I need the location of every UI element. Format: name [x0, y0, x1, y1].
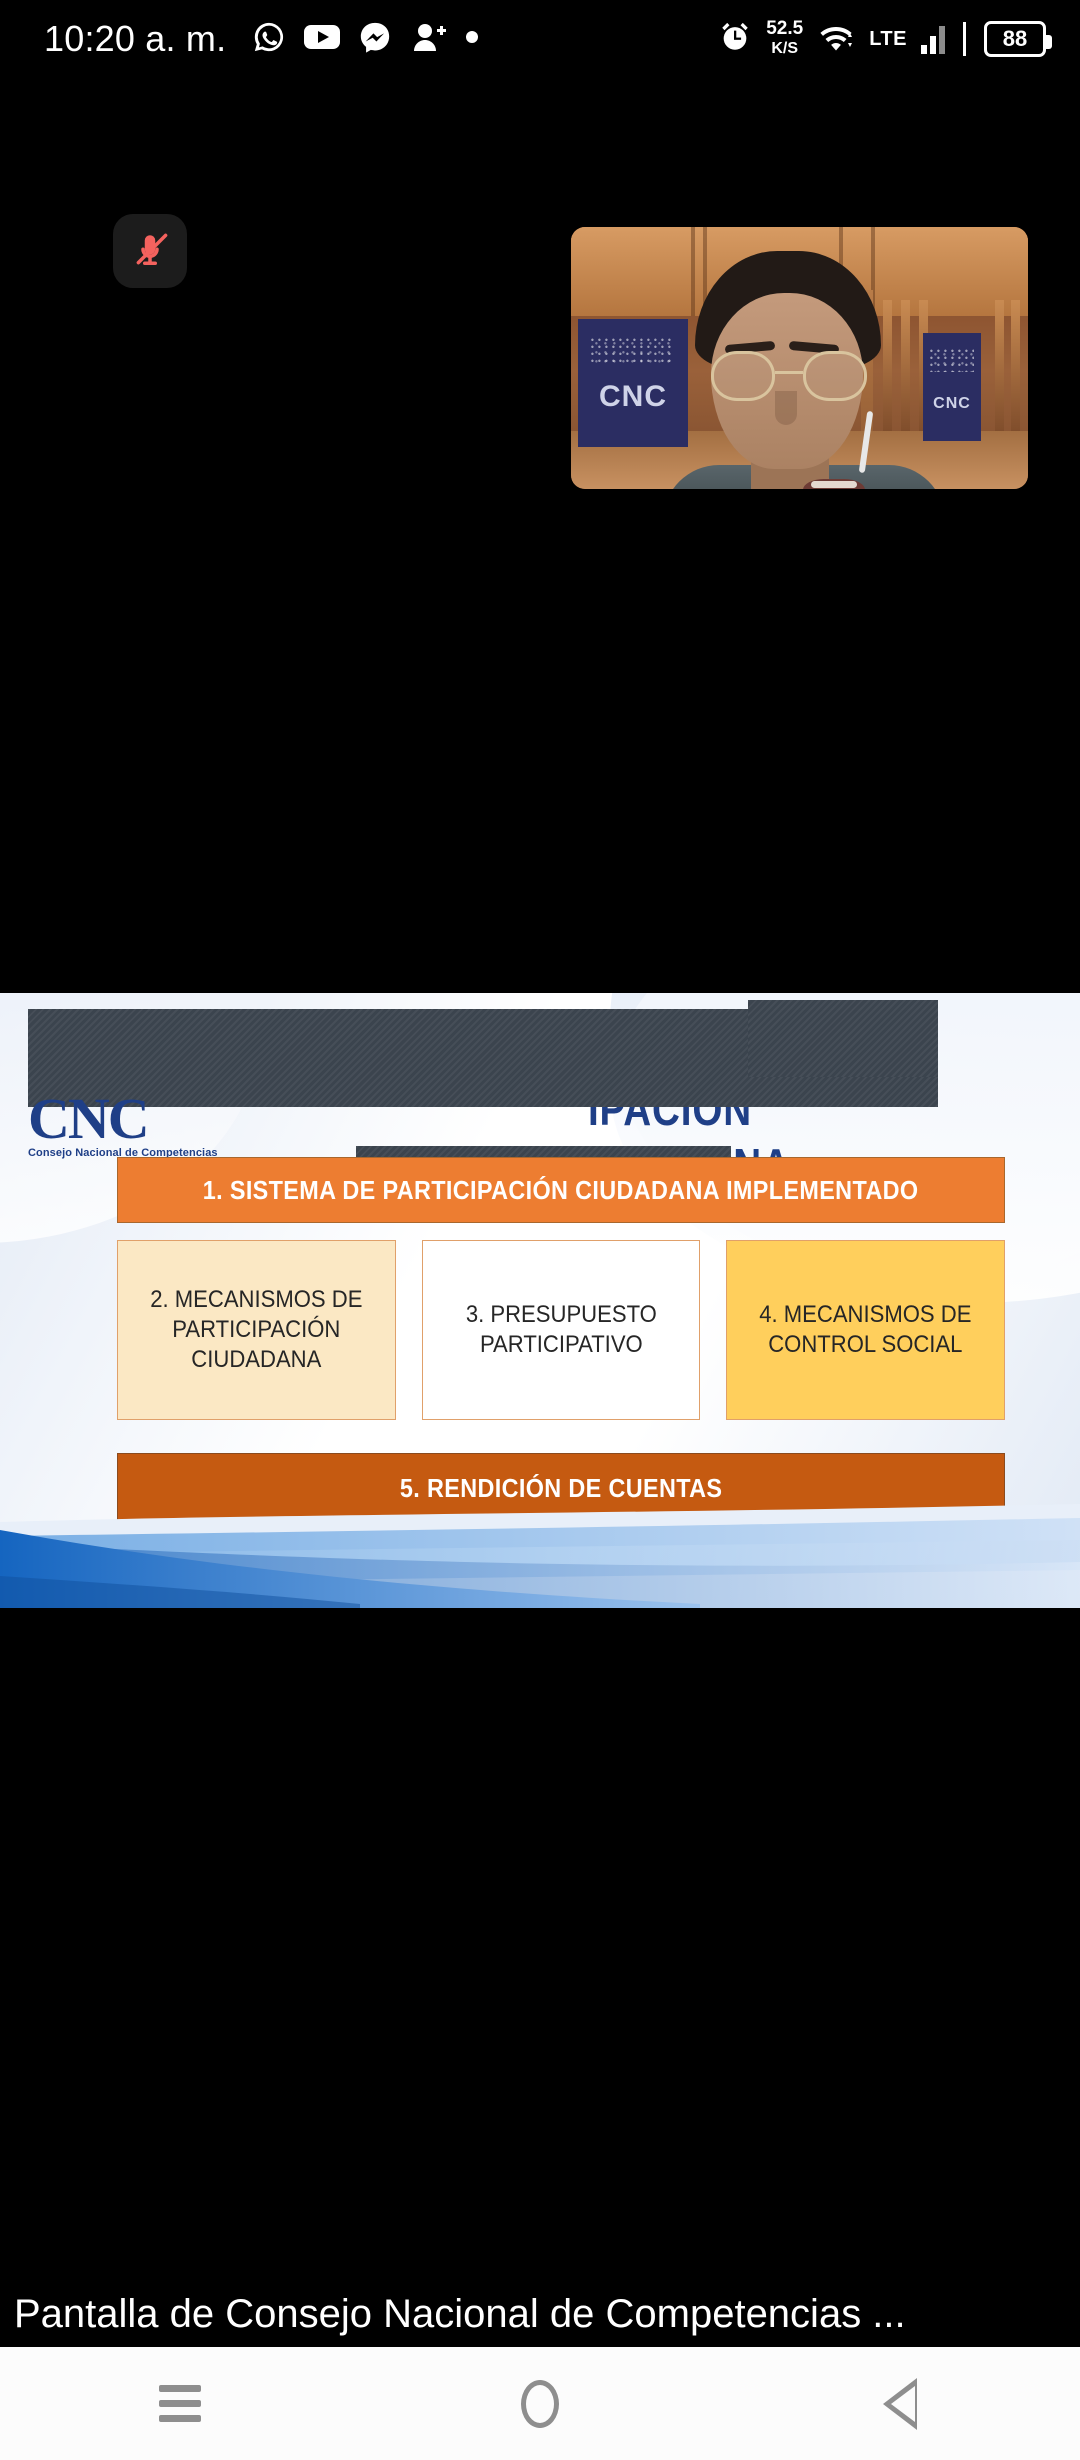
- alarm-icon: [718, 20, 752, 59]
- video-room-background: CNC CNC: [571, 227, 1028, 489]
- whatsapp-icon: [252, 20, 286, 59]
- network-speed-unit: K/S: [766, 39, 803, 59]
- slide-box-3-label: 3. PRESUPUESTO PARTICIPATIVO: [445, 1300, 677, 1360]
- network-type-label: LTE: [869, 28, 907, 51]
- cnc-logo-mark: CNC: [28, 1093, 218, 1145]
- status-bar-right: 52.5 K/S LTE 88: [718, 19, 1046, 59]
- redaction-block-2: [748, 1000, 938, 1077]
- youtube-icon: [304, 24, 340, 55]
- back-button[interactable]: [720, 2347, 1080, 2460]
- slide-box-row: 2. MECANISMOS DE PARTICIPACIÓN CIUDADANA…: [117, 1240, 1005, 1420]
- cnc-logo: CNC Consejo Nacional de Competencias: [28, 1093, 218, 1159]
- screenshare-caption-text: Pantalla de Consejo Nacional de Competen…: [14, 2292, 906, 2337]
- slide-box-3: 3. PRESUPUESTO PARTICIPATIVO: [422, 1240, 701, 1420]
- notification-icons: [252, 20, 480, 59]
- signal-bars-icon: [921, 24, 945, 54]
- shared-presentation-slide[interactable]: IPACIÓN CIUDADANA CNC Consejo Nacional d…: [0, 993, 1080, 1608]
- banner-dots-left: [591, 337, 675, 365]
- home-button[interactable]: [360, 2347, 720, 2460]
- screenshare-caption-bar: Pantalla de Consejo Nacional de Competen…: [0, 2281, 1080, 2347]
- slide-box-4-label: 4. MECANISMOS DE CONTROL SOCIAL: [749, 1300, 981, 1360]
- slide-wave-decoration: [0, 1492, 1080, 1608]
- battery-level: 88: [1003, 26, 1027, 52]
- status-bar-clock: 10:20 a. m.: [44, 18, 226, 60]
- participant-video-tile[interactable]: CNC CNC: [571, 227, 1028, 489]
- microphone-muted-icon[interactable]: [113, 214, 187, 288]
- network-speed: 52.5 K/S: [766, 19, 803, 59]
- wifi-icon: [817, 21, 855, 58]
- messenger-icon: [358, 20, 392, 59]
- status-divider: [963, 22, 966, 56]
- back-icon: [883, 2378, 917, 2430]
- slide-box-2-label: 2. MECANISMOS DE PARTICIPACIÓN CIUDADANA: [140, 1285, 372, 1375]
- home-icon: [521, 2380, 559, 2428]
- earphone-cable: [859, 411, 874, 473]
- add-person-icon: [410, 22, 446, 57]
- status-bar[interactable]: 10:20 a. m. 52.5 K/S: [0, 0, 1080, 78]
- participant-person: [667, 251, 937, 489]
- glasses: [711, 351, 867, 403]
- slide-box-2: 2. MECANISMOS DE PARTICIPACIÓN CIUDADANA: [117, 1240, 396, 1420]
- network-speed-value: 52.5: [766, 18, 803, 39]
- mouth: [803, 479, 865, 489]
- meeting-screenshare-area[interactable]: CNC CNC: [0, 78, 1080, 2281]
- android-navigation-bar[interactable]: [0, 2347, 1080, 2460]
- battery-indicator: 88: [984, 21, 1046, 57]
- slide-bar-top: 1. SISTEMA DE PARTICIPACIÓN CIUDADANA IM…: [117, 1157, 1005, 1223]
- dot-icon: [464, 29, 480, 50]
- recents-icon: [159, 2385, 201, 2422]
- recents-button[interactable]: [0, 2347, 360, 2460]
- slide-bar-top-label: 1. SISTEMA DE PARTICIPACIÓN CIUDADANA IM…: [203, 1175, 919, 1206]
- slide-box-4: 4. MECANISMOS DE CONTROL SOCIAL: [726, 1240, 1005, 1420]
